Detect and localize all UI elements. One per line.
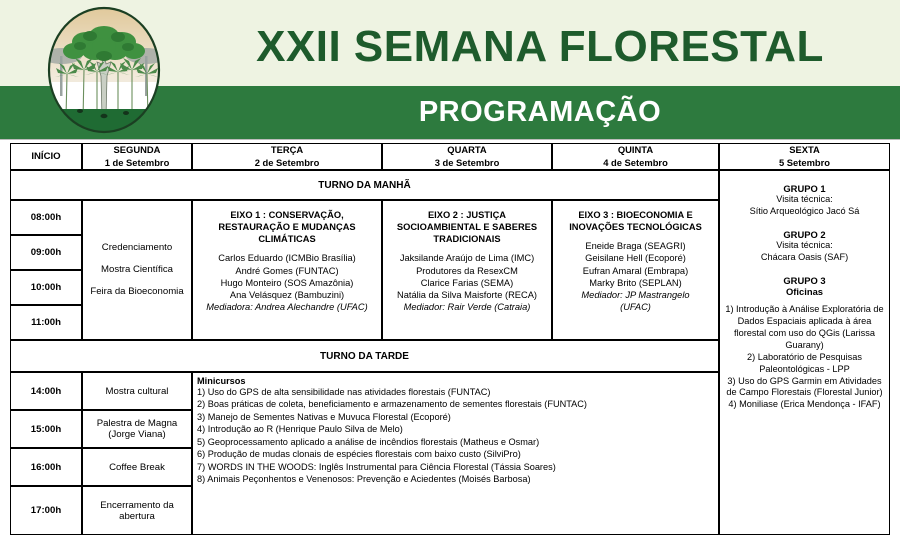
afternoon-activity-1600: Coffee Break xyxy=(82,448,192,486)
grupo2-line2: Chácara Oasis (SAF) xyxy=(725,252,884,264)
eixo3-speaker-2: Geisilane Hell (Ecoporé) xyxy=(557,252,714,264)
band-turno-manha: TURNO DA MANHÃ xyxy=(10,170,719,200)
eixo3-title: EIXO 3 : BIOECONOMIA E INOVAÇÕES TECNOLÓ… xyxy=(557,209,714,233)
eixo2-title: EIXO 2 : JUSTIÇA SOCIOAMBIENTAL E SABERE… xyxy=(387,209,547,245)
workshop-item-4: 4) Moniliase (Erica Mendonça - IFAF) xyxy=(725,399,884,411)
time-1600: 16:00h xyxy=(10,448,82,486)
day-name-quarta: QUARTA xyxy=(435,144,500,156)
sexta-column-content: GRUPO 1 Visita técnica: Sítio Arqueológi… xyxy=(719,170,890,535)
header-day-quarta: QUARTA 3 de Setembro xyxy=(382,143,552,170)
header-inicio: INÍCIO xyxy=(10,143,82,170)
forest-tree-logo-icon xyxy=(40,6,168,134)
minicurso-item-6: 6) Produção de mudas clonais de espécies… xyxy=(197,448,718,460)
eixo3-speaker-3: Eufran Amaral (Embrapa) xyxy=(557,265,714,277)
eixo1-speaker-4: Ana Velásquez (Bambuzini) xyxy=(198,289,376,301)
eixo2-speaker-1: Jaksilande Araújo de Lima (IMC) xyxy=(387,252,547,264)
grupo2-title: GRUPO 2 xyxy=(725,229,884,240)
header-day-quinta: QUINTA 4 de Setembro xyxy=(552,143,719,170)
eixo1-speaker-3: Hugo Monteiro (SOS Amazônia) xyxy=(198,277,376,289)
day-date-quinta: 4 de Setembro xyxy=(603,157,668,169)
day-name-terca: TERÇA xyxy=(255,144,320,156)
minicurso-item-3: 3) Manejo de Sementes Nativas e Muvuca F… xyxy=(197,411,718,423)
eixo3-mediator-affiliation: (UFAC) xyxy=(557,301,714,313)
eixo2-mediator: Mediador: Rair Verde (Catraia) xyxy=(387,301,547,313)
eixo2-speaker-4: Natália da Silva Maisforte (RECA) xyxy=(387,289,547,301)
minicurso-item-8: 8) Animais Peçonhentos e Venenosos: Prev… xyxy=(197,473,718,485)
poster-title: XXII SEMANA FLORESTAL xyxy=(195,16,885,78)
segunda-morning-line1: Credenciamento xyxy=(90,237,183,259)
minicurso-item-1: 1) Uso do GPS de alta sensibilidade nas … xyxy=(197,386,718,398)
segunda-morning-line2: Mostra Científica xyxy=(90,259,183,281)
minicurso-item-7: 7) WORDS IN THE WOODS: Inglês Instrument… xyxy=(197,461,718,473)
grupo2-line1: Visita técnica: xyxy=(725,240,884,252)
header-day-sexta: SEXTA 5 Setembro xyxy=(719,143,890,170)
eixo1-title: EIXO 1 : CONSERVAÇÃO, RESTAURAÇÃO E MUDA… xyxy=(198,209,376,245)
eixo1-speaker-2: André Gomes (FUNTAC) xyxy=(198,265,376,277)
eixo2-speaker-3: Clarice Farias (SEMA) xyxy=(387,277,547,289)
minicurso-item-4: 4) Introdução ao R (Henrique Paulo Silva… xyxy=(197,423,718,435)
day-date-terca: 2 de Setembro xyxy=(255,157,320,169)
time-1500: 15:00h xyxy=(10,410,82,448)
minicursos-cell: Minicursos 1) Uso do GPS de alta sensibi… xyxy=(192,372,719,535)
workshop-item-3: 3) Uso do GPS Garmin em Atividades de Ca… xyxy=(725,376,884,400)
minicursos-heading: Minicursos xyxy=(197,376,718,386)
day-date-sexta: 5 Setembro xyxy=(779,157,830,169)
day-name-quinta: QUINTA xyxy=(603,144,668,156)
day-date-segunda: 1 de Setembro xyxy=(105,157,170,169)
eixo3-mediator: Mediador: JP Mastrangelo xyxy=(557,289,714,301)
minicurso-item-2: 2) Boas práticas de coleta, beneficiamen… xyxy=(197,398,718,410)
eixo3-speaker-4: Marky Brito (SEPLAN) xyxy=(557,277,714,289)
eixo3-speaker-1: Eneide Braga (SEAGRI) xyxy=(557,240,714,252)
poster-subtitle: PROGRAMAÇÃO xyxy=(195,88,885,136)
schedule-table: INÍCIO SEGUNDA 1 de Setembro TERÇA 2 de … xyxy=(10,143,890,535)
time-1000: 10:00h xyxy=(10,270,82,305)
grupo1-title: GRUPO 1 xyxy=(725,183,884,194)
afternoon-activity-1400: Mostra cultural xyxy=(82,372,192,410)
segunda-morning-cell: Credenciamento Mostra Científica Feira d… xyxy=(82,200,192,340)
time-0800: 08:00h xyxy=(10,200,82,235)
minicurso-item-5: 5) Geoprocessamento aplicado a análise d… xyxy=(197,436,718,448)
time-1100: 11:00h xyxy=(10,305,82,340)
grupo3-title: GRUPO 3 xyxy=(725,275,884,286)
eixo1-speaker-1: Carlos Eduardo (ICMBio Brasília) xyxy=(198,252,376,264)
workshop-item-1: 1) Introdução à Análise Exploratória de … xyxy=(725,304,884,352)
day-name-sexta: SEXTA xyxy=(779,144,830,156)
day-name-segunda: SEGUNDA xyxy=(105,144,170,156)
time-1400: 14:00h xyxy=(10,372,82,410)
eixo1-cell: EIXO 1 : CONSERVAÇÃO, RESTAURAÇÃO E MUDA… xyxy=(192,200,382,340)
header-day-segunda: SEGUNDA 1 de Setembro xyxy=(82,143,192,170)
workshop-item-2: 2) Laboratório de Pesquisas Paleontológi… xyxy=(725,352,884,376)
header-day-terca: TERÇA 2 de Setembro xyxy=(192,143,382,170)
grupo3-subtitle: Oficinas xyxy=(725,286,884,297)
grupo1-line2: Sítio Arqueológico Jacó Sá xyxy=(725,206,884,218)
band-turno-tarde: TURNO DA TARDE xyxy=(10,340,719,372)
program-poster: XXII SEMANA FLORESTAL PROGRAMAÇÃO INÍCIO… xyxy=(0,0,900,545)
poster-banner: XXII SEMANA FLORESTAL PROGRAMAÇÃO xyxy=(0,0,900,140)
eixo2-speaker-2: Produtores da ResexCM xyxy=(387,265,547,277)
afternoon-activity-1700: Encerramento da abertura xyxy=(82,486,192,535)
time-0900: 09:00h xyxy=(10,235,82,270)
eixo2-cell: EIXO 2 : JUSTIÇA SOCIOAMBIENTAL E SABERE… xyxy=(382,200,552,340)
afternoon-activity-1500: Palestra de Magna (Jorge Viana) xyxy=(82,410,192,448)
eixo1-mediator: Mediadora: Andrea Alechandre (UFAC) xyxy=(198,301,376,313)
grupo1-line1: Visita técnica: xyxy=(725,194,884,206)
eixo3-cell: EIXO 3 : BIOECONOMIA E INOVAÇÕES TECNOLÓ… xyxy=(552,200,719,340)
segunda-morning-line3: Feira da Bioeconomia xyxy=(90,281,183,303)
time-1700: 17:00h xyxy=(10,486,82,535)
day-date-quarta: 3 de Setembro xyxy=(435,157,500,169)
